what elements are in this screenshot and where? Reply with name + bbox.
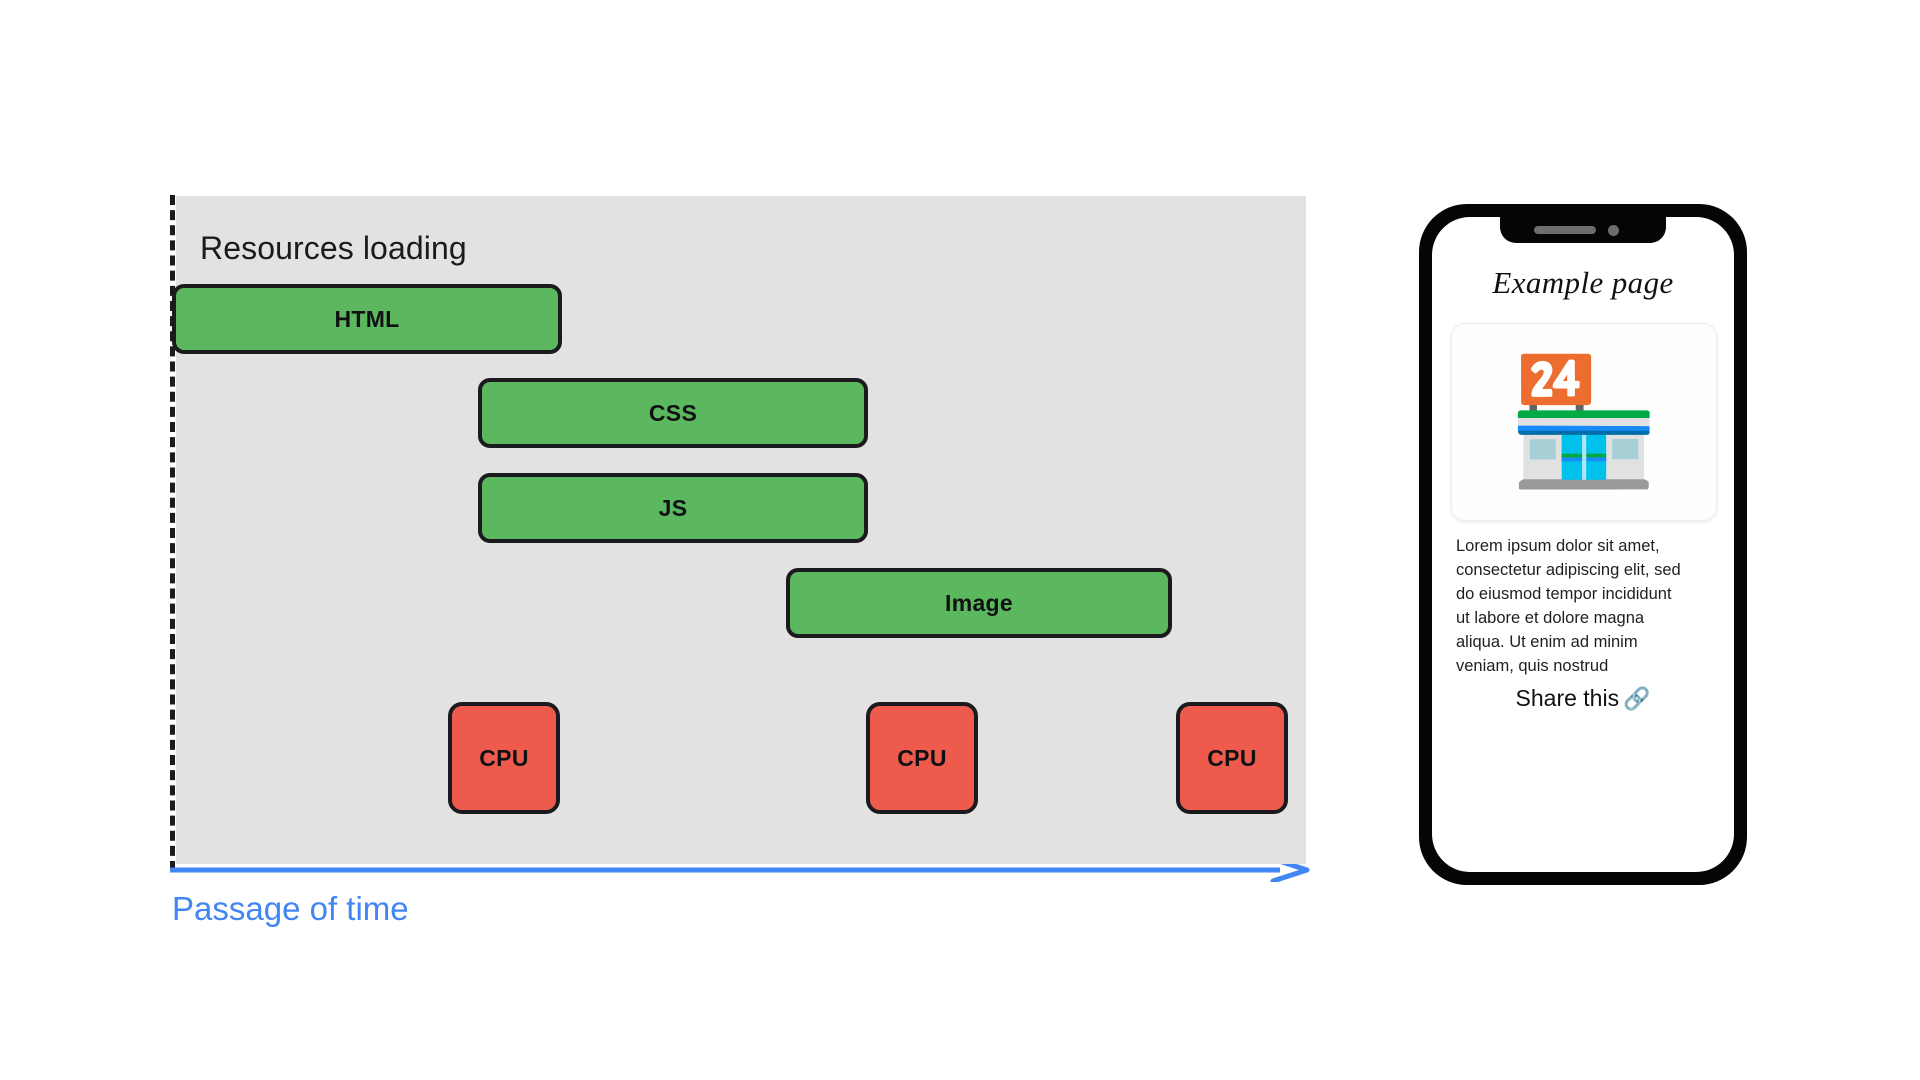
share-this-link[interactable]: Share this🔗 (1432, 685, 1734, 712)
cpu-block: CPU (448, 702, 560, 814)
resource-bar-label: Image (945, 590, 1013, 617)
panel-title: Resources loading (200, 230, 467, 267)
link-emoji: 🔗 (1623, 687, 1650, 712)
front-camera-icon (1608, 225, 1619, 236)
resource-loading-timeline-diagram: Resources loading HTML CSS JS Image CPU … (0, 0, 1360, 1080)
page-body-text: Lorem ipsum dolor sit amet, consectetur … (1456, 535, 1688, 679)
time-axis-arrow-icon (170, 864, 1310, 882)
phone-screen: Example page 🏪 Lorem ipsum dolor sit ame… (1432, 217, 1734, 872)
resource-bar-image: Image (786, 568, 1172, 638)
resource-bar-label: HTML (334, 306, 399, 333)
resource-bar-css: CSS (478, 378, 868, 448)
resource-bar-label: CSS (649, 400, 697, 427)
share-this-label: Share this (1516, 685, 1620, 711)
resource-bar-label: JS (659, 495, 688, 522)
cpu-block-label: CPU (897, 745, 946, 772)
phone-mockup: Example page 🏪 Lorem ipsum dolor sit ame… (1419, 204, 1747, 885)
time-axis-label: Passage of time (172, 890, 409, 928)
cpu-block: CPU (1176, 702, 1288, 814)
earpiece-speaker-icon (1534, 226, 1596, 234)
hero-image-card: 🏪 (1451, 323, 1717, 521)
cpu-block-label: CPU (1207, 745, 1256, 772)
cpu-block-label: CPU (479, 745, 528, 772)
resource-bar-html: HTML (172, 284, 562, 354)
cpu-block: CPU (866, 702, 978, 814)
convenience-store-emoji: 🏪 (1507, 360, 1661, 484)
page-title: Example page (1432, 265, 1734, 301)
resource-bar-js: JS (478, 473, 868, 543)
phone-notch (1500, 217, 1666, 243)
